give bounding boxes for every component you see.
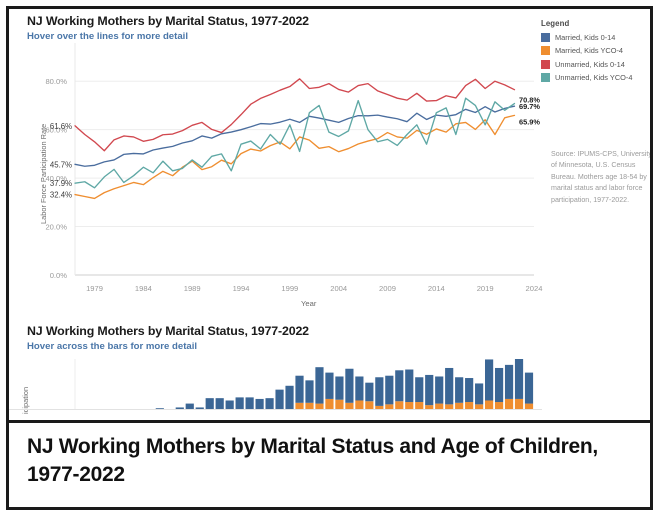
line-chart-x-tick: 1984 — [135, 284, 152, 293]
bar-segment-married-kids-yco-4[interactable] — [435, 404, 443, 409]
bar-segment-married-kids-yco-4[interactable] — [305, 403, 313, 409]
bar-segment-married-kids-0-14[interactable] — [355, 376, 363, 400]
bar-segment-married-kids-yco-4[interactable] — [515, 399, 523, 409]
bar-segment-married-kids-yco-4[interactable] — [445, 404, 453, 409]
line-chart-start-value-label: 45.7% — [50, 160, 72, 169]
bar-segment-married-kids-yco-4[interactable] — [325, 399, 333, 409]
bar-segment-married-kids-yco-4[interactable] — [355, 400, 363, 409]
bar-segment-married-kids-yco-4[interactable] — [345, 403, 353, 409]
bar-segment-married-kids-0-14[interactable] — [515, 359, 523, 399]
bar-segment-married-kids-yco-4[interactable] — [405, 402, 413, 409]
bar-segment-married-kids-0-14[interactable] — [156, 408, 164, 409]
bar-segment-married-kids-0-14[interactable] — [435, 376, 443, 403]
bar-segment-married-kids-0-14[interactable] — [455, 377, 463, 403]
line-chart-end-value-label: 69.7% — [519, 102, 540, 111]
bar-segment-married-kids-0-14[interactable] — [415, 377, 423, 402]
caption-bar: NJ Working Mothers by Marital Status and… — [9, 420, 650, 507]
bar-segment-married-kids-0-14[interactable] — [176, 407, 184, 409]
bar-segment-married-kids-yco-4[interactable] — [485, 400, 493, 409]
line-series-married-kids-yco-4[interactable] — [75, 115, 514, 198]
line-chart-end-value-label: 65.9% — [519, 117, 540, 126]
legend-item-unmarried-kids-0-14[interactable]: Unmarried, Kids 0-14 — [541, 59, 650, 69]
bar-segment-married-kids-0-14[interactable] — [395, 370, 403, 401]
dashboard-visualization: NJ Working Mothers by Marital Status, 19… — [9, 9, 650, 419]
legend-swatch-married-kids-0-14 — [541, 33, 550, 42]
legend-swatch-unmarried-kids-yco-4 — [541, 73, 550, 82]
bar-segment-married-kids-0-14[interactable] — [365, 383, 373, 402]
bar-segment-married-kids-0-14[interactable] — [325, 373, 333, 399]
bar-segment-married-kids-0-14[interactable] — [206, 398, 214, 409]
line-chart-start-value-label: 32.4% — [50, 191, 72, 200]
legend-swatch-unmarried-kids-0-14 — [541, 60, 550, 69]
screenshot-root: NJ Working Mothers by Marital Status, 19… — [0, 0, 659, 516]
legend-label-married-kids-0-14: Married, Kids 0-14 — [555, 33, 615, 42]
bar-segment-married-kids-0-14[interactable] — [186, 404, 194, 409]
bar-segment-married-kids-0-14[interactable] — [345, 369, 353, 403]
line-chart-x-tick: 1979 — [86, 284, 103, 293]
bar-segment-married-kids-0-14[interactable] — [226, 400, 234, 409]
line-chart-x-tick: 1994 — [233, 284, 250, 293]
bar-segment-married-kids-0-14[interactable] — [505, 365, 513, 399]
bar-segment-married-kids-0-14[interactable] — [196, 407, 204, 409]
bar-segment-married-kids-0-14[interactable] — [265, 398, 273, 409]
bar-segment-married-kids-yco-4[interactable] — [505, 399, 513, 409]
line-chart-y-tick: 0.0% — [50, 271, 68, 280]
bar-segment-married-kids-yco-4[interactable] — [365, 401, 373, 409]
bar-segment-married-kids-yco-4[interactable] — [425, 405, 433, 409]
line-chart-x-tick: 2019 — [477, 284, 494, 293]
line-chart-y-tick: 20.0% — [45, 223, 67, 232]
legend-label-unmarried-kids-yco-4: Unmarried, Kids YCO-4 — [555, 73, 633, 82]
bar-segment-married-kids-0-14[interactable] — [216, 398, 224, 409]
bar-segment-married-kids-0-14[interactable] — [335, 376, 343, 399]
line-chart-x-tick: 2009 — [379, 284, 396, 293]
line-chart-x-tick: 2024 — [526, 284, 543, 293]
bar-segment-married-kids-0-14[interactable] — [475, 383, 483, 404]
bar-segment-married-kids-0-14[interactable] — [465, 378, 473, 402]
line-chart-x-tick: 1989 — [184, 284, 201, 293]
bar-segment-married-kids-yco-4[interactable] — [375, 406, 383, 409]
bar-segment-married-kids-0-14[interactable] — [305, 380, 313, 402]
bar-segment-married-kids-0-14[interactable] — [256, 399, 264, 409]
bar-segment-married-kids-yco-4[interactable] — [475, 404, 483, 409]
legend-label-unmarried-kids-0-14: Unmarried, Kids 0-14 — [555, 60, 625, 69]
legend-label-married-kids-yco-4: Married, Kids YCO-4 — [555, 46, 623, 55]
legend-item-unmarried-kids-yco-4[interactable]: Unmarried, Kids YCO-4 — [541, 73, 650, 83]
bar-chart-panel: NJ Working Mothers by Marital Status, 19… — [9, 324, 650, 419]
legend-title: Legend — [541, 19, 650, 28]
line-chart-x-tick: 1999 — [281, 284, 298, 293]
bar-segment-married-kids-0-14[interactable] — [445, 368, 453, 404]
bar-chart-title: NJ Working Mothers by Marital Status, 19… — [27, 324, 309, 338]
bar-segment-married-kids-yco-4[interactable] — [385, 404, 393, 409]
bar-segment-married-kids-yco-4[interactable] — [335, 400, 343, 409]
legend: Legend Married, Kids 0-14 Married, Kids … — [541, 19, 650, 86]
bar-segment-married-kids-yco-4[interactable] — [455, 403, 463, 409]
line-chart-x-tick: 2004 — [330, 284, 347, 293]
source-note: Source: IPUMS-CPS, University of Minneso… — [551, 149, 650, 206]
bar-segment-married-kids-0-14[interactable] — [315, 367, 323, 403]
bar-segment-married-kids-yco-4[interactable] — [315, 404, 323, 409]
bar-segment-married-kids-yco-4[interactable] — [495, 402, 503, 409]
bar-segment-married-kids-0-14[interactable] — [246, 397, 254, 409]
line-chart-y-tick: 80.0% — [45, 77, 67, 86]
bar-segment-married-kids-0-14[interactable] — [236, 397, 244, 409]
legend-swatch-married-kids-yco-4 — [541, 46, 550, 55]
bar-segment-married-kids-0-14[interactable] — [295, 376, 303, 403]
bar-segment-married-kids-yco-4[interactable] — [415, 402, 423, 409]
bar-segment-married-kids-0-14[interactable] — [525, 373, 533, 404]
bar-segment-married-kids-yco-4[interactable] — [395, 401, 403, 409]
bar-segment-married-kids-yco-4[interactable] — [525, 404, 533, 409]
legend-item-married-kids-yco-4[interactable]: Married, Kids YCO-4 — [541, 46, 650, 56]
bar-chart-canvas[interactable] — [9, 359, 650, 419]
bar-segment-married-kids-0-14[interactable] — [425, 375, 433, 405]
caption-text: NJ Working Mothers by Marital Status and… — [27, 433, 632, 488]
bar-segment-married-kids-0-14[interactable] — [405, 370, 413, 403]
bar-chart-subtitle: Hover across the bars for more detail — [27, 341, 197, 352]
line-chart-start-value-label: 37.9% — [50, 179, 72, 188]
bar-segment-married-kids-0-14[interactable] — [495, 368, 503, 402]
bar-segment-married-kids-0-14[interactable] — [275, 390, 283, 409]
bar-segment-married-kids-0-14[interactable] — [375, 377, 383, 406]
line-chart-x-tick: 2014 — [428, 284, 445, 293]
line-chart-start-value-label: 61.6% — [50, 122, 72, 131]
legend-item-married-kids-0-14[interactable]: Married, Kids 0-14 — [541, 32, 650, 42]
bar-segment-married-kids-0-14[interactable] — [385, 376, 393, 405]
bar-segment-married-kids-0-14[interactable] — [285, 386, 293, 409]
bar-segment-married-kids-yco-4[interactable] — [295, 403, 303, 409]
line-chart-x-axis-title: Year — [301, 299, 316, 308]
bar-segment-married-kids-yco-4[interactable] — [465, 402, 473, 409]
bar-segment-married-kids-0-14[interactable] — [485, 359, 493, 400]
